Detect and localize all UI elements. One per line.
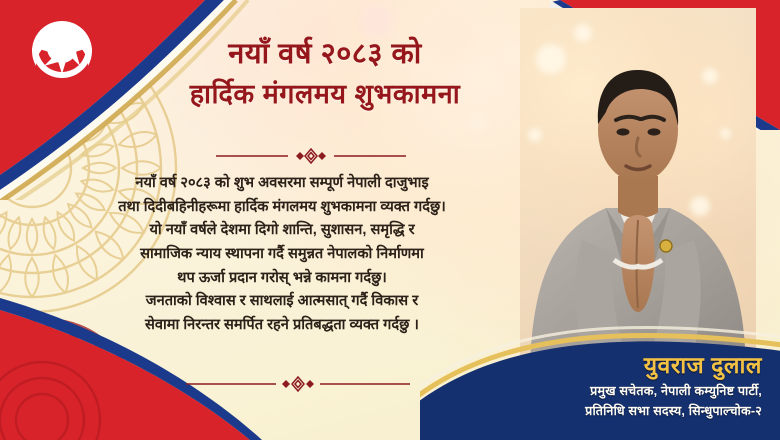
message-line: यो नयाँ वर्षले देशमा दिगो शान्ति, सुशासन… (48, 219, 516, 243)
signature-role-line-1: प्रमुख सचेतक, नेपाली कम्युनिष्ट पार्टी, (590, 382, 762, 399)
message-line: तथा दिदीबहिनीहरूमा हार्दिक मंगलमय शुभकाम… (48, 196, 516, 220)
message-line: सेवामा निरन्तर समर्पित रहने प्रतिबद्धता … (48, 314, 516, 338)
title-line-2: हार्दिक मंगलमय शुभकामना (110, 75, 540, 113)
message-line: नयाँ वर्ष २०८३ को शुभ अवसरमा सम्पूर्ण ने… (48, 172, 516, 196)
message-line: जनताको विश्वास र साथलाई आत्मसात् गर्दै व… (48, 290, 516, 314)
signature-block: युवराज दुलाल प्रमुख सचेतक, नेपाली कम्युन… (420, 336, 780, 440)
signature-role-line-2: प्रतिनिधि सभा सदस्य, सिन्धुपाल्चोक-२ (585, 402, 762, 419)
greeting-poster: नयाँ वर्ष २०८३ को हार्दिक मंगलमय शुभकामन… (0, 0, 780, 440)
title-line-1: नयाँ वर्ष २०८३ को (110, 34, 540, 75)
message-line: थप ऊर्जा प्रदान गरोस् भन्ने कामना गर्दछु… (48, 267, 516, 291)
page-title: नयाँ वर्ष २०८३ को हार्दिक मंगलमय शुभकामन… (110, 34, 540, 114)
diamond-ornament-divider-icon (186, 376, 410, 392)
message-line: सामाजिक न्याय स्थापना गर्दै समुन्नत नेपा… (48, 243, 516, 267)
signature-name: युवराज दुलाल (644, 348, 762, 380)
diamond-ornament-divider-icon (216, 148, 406, 164)
greeting-message: नयाँ वर्ष २०८३ को शुभ अवसरमा सम्पूर्ण ने… (48, 172, 516, 337)
